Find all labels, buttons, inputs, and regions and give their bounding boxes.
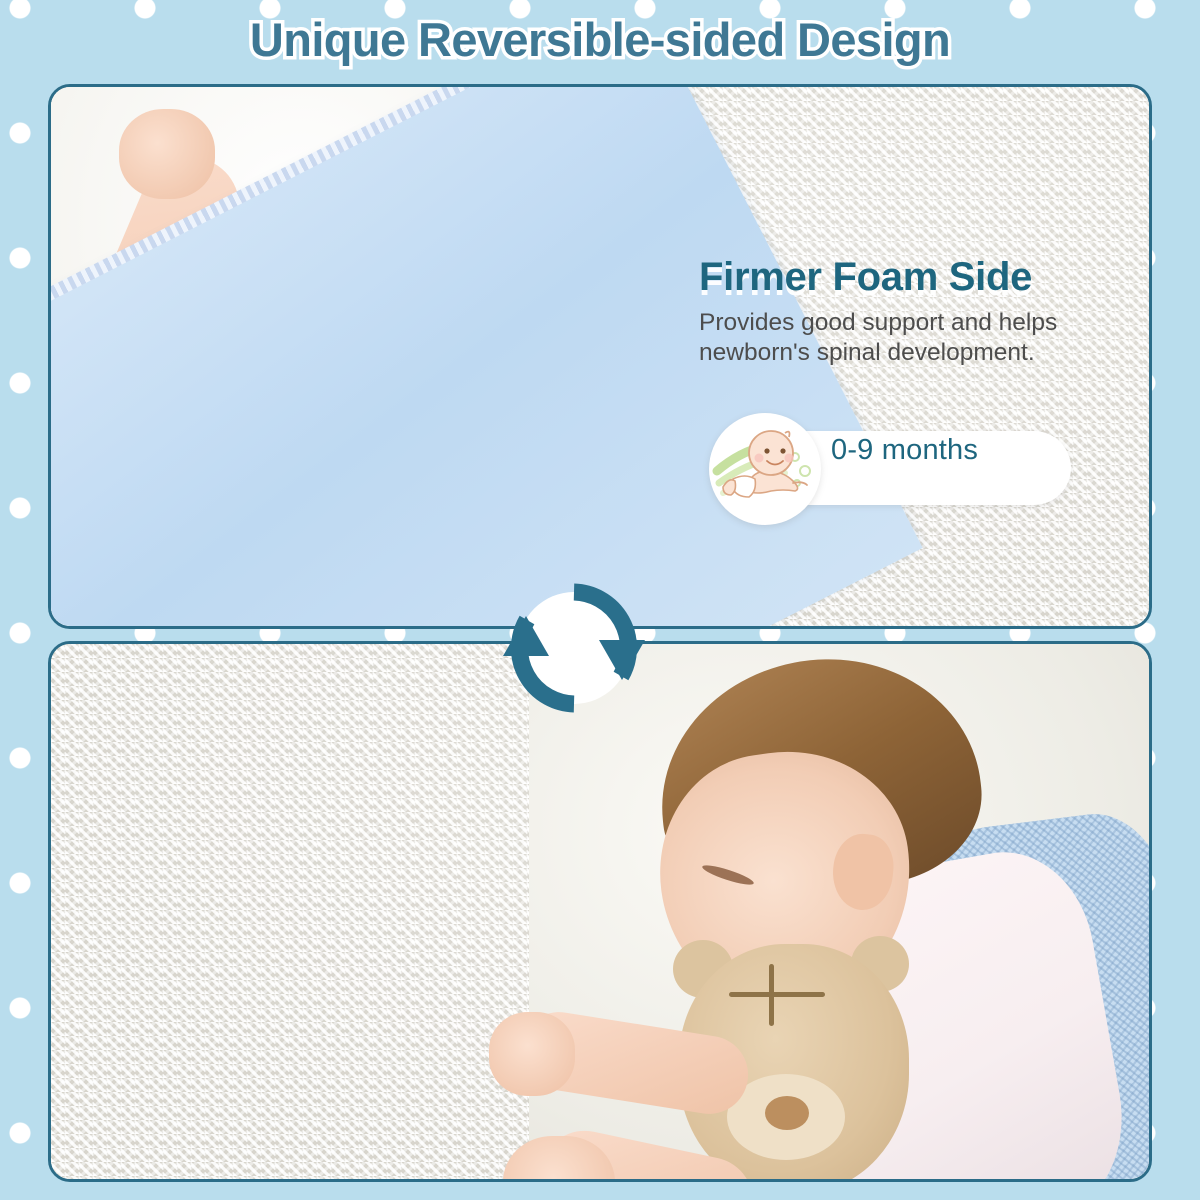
crawling-baby-icon [709, 413, 821, 525]
teddy-stitch-horizontal [729, 992, 825, 997]
teddy-stitch-vertical [769, 964, 774, 1026]
feature-text-firmer: Firmer Foam Side Provides good support a… [699, 255, 1152, 369]
photo-sleeping-toddler [529, 644, 1149, 1179]
toddler-upper-hand [489, 1012, 575, 1096]
photo-sleeping-newborn [51, 87, 671, 626]
panel-firmer-foam: Firmer Foam Side Provides good support a… [48, 84, 1152, 629]
age-label-top: 0-9 months [831, 413, 978, 487]
baby-left-fist [119, 109, 215, 199]
age-badge-0-9-months: 0-9 months [709, 413, 1071, 523]
page-title: Unique Reversible-sided Design [0, 12, 1200, 67]
feature-desc-firmer: Provides good support and helps newborn'… [699, 308, 1152, 369]
feature-title-firmer: Firmer Foam Side [699, 255, 1152, 300]
reverse-arrows-icon [498, 572, 650, 724]
teddy-nose [765, 1096, 809, 1130]
